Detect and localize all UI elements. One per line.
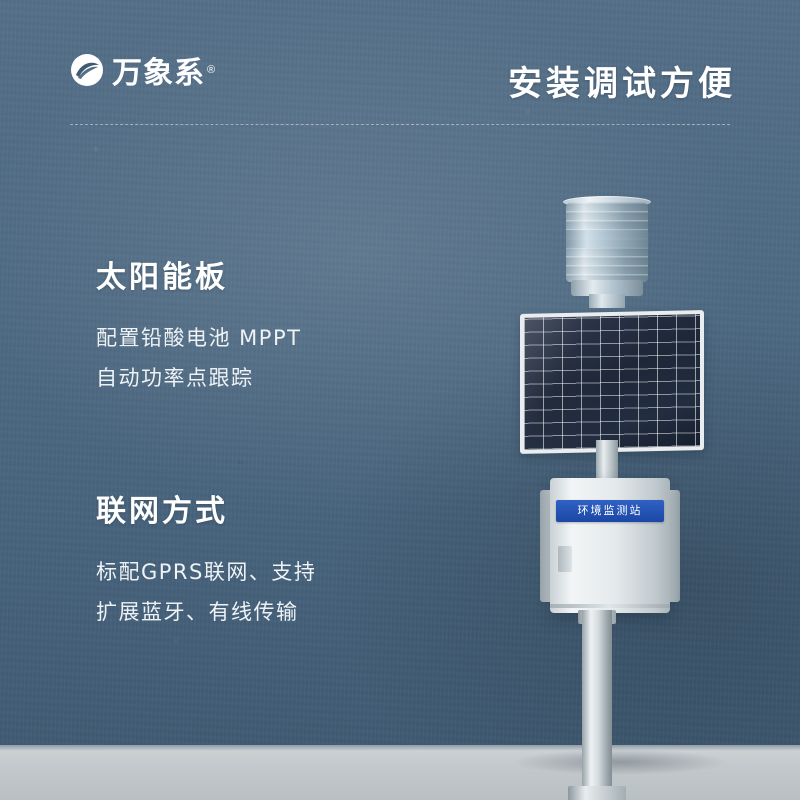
headline-title: 安装调试方便 [508,56,736,105]
feature-title: 联网方式 [96,486,316,530]
brand-logo: 万象系 ® [70,48,215,92]
feature-block-solar: 太阳能板 配置铅酸电池 MPPT 自动功率点跟踪 [96,252,301,398]
swoosh-logo-icon [70,53,104,87]
enclosure-vent [558,546,572,572]
brand-name: 万象系 [112,48,205,92]
weather-station-device: 环境监测站 [470,190,770,770]
registered-mark: ® [207,64,215,76]
rain-gauge-sensor [563,190,651,300]
gauge-band [566,230,648,248]
feature-line: 自动功率点跟踪 [96,358,301,398]
pole-base-plate [568,786,626,800]
feature-line: 标配GPRS联网、支持 [96,552,316,592]
solar-panel [520,310,704,454]
feature-line: 扩展蓝牙、有线传输 [96,592,316,632]
upper-mast [596,440,618,482]
gauge-foot [589,294,625,308]
device-name-plate: 环境监测站 [556,500,664,522]
product-poster: 万象系 ® 安装调试方便 太阳能板 配置铅酸电池 MPPT 自动功率点跟踪 联网… [0,0,800,800]
feature-title: 太阳能板 [96,252,301,296]
enclosure-seam [550,604,670,608]
panel-glare [524,314,700,450]
feature-line: 配置铅酸电池 MPPT [96,318,301,358]
feature-block-network: 联网方式 标配GPRS联网、支持 扩展蓝牙、有线传输 [96,486,316,632]
mounting-pole [582,610,612,800]
header-divider [70,124,730,125]
